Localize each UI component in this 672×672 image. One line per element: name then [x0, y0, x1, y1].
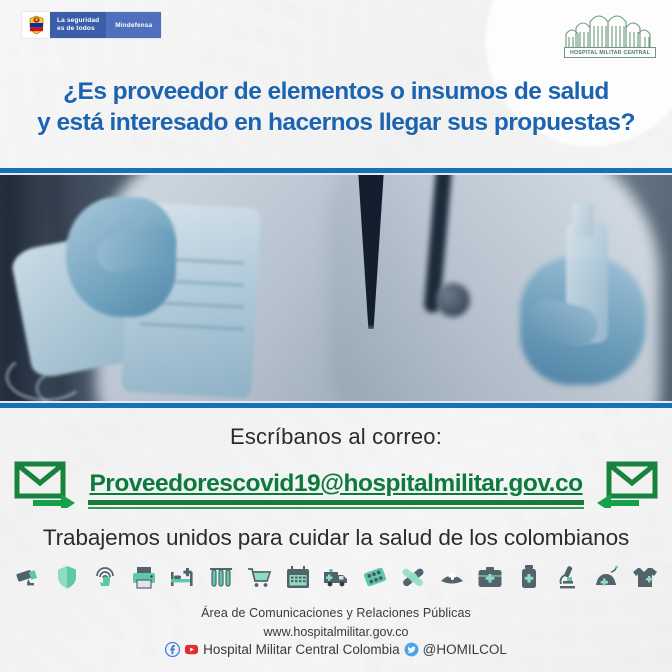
printer-icon — [130, 563, 158, 591]
microscope-icon — [553, 563, 581, 591]
calendar-icon — [284, 563, 312, 591]
doctor-photo — [0, 175, 672, 401]
twitter-icon[interactable] — [404, 642, 419, 657]
headline-line2: y está interesado en hacernos llegar sus… — [0, 107, 672, 138]
photo-color-tint — [0, 175, 672, 401]
medical-icon-strip — [0, 558, 672, 596]
shopping-cart-icon — [245, 563, 273, 591]
ministry-label: Mindefensa — [106, 12, 161, 38]
facebook-icon[interactable] — [165, 642, 180, 657]
pill-blister-icon — [361, 563, 389, 591]
medicine-bottle-icon — [515, 563, 543, 591]
bandages-icon — [399, 563, 427, 591]
ambulance-icon — [322, 563, 350, 591]
emergency-siren-icon — [592, 563, 620, 591]
campaign-slogan: Trabajemos unidos para cuidar la salud d… — [0, 525, 672, 551]
photo-bottom-rule — [0, 403, 672, 408]
email-underline-thick — [88, 500, 584, 505]
gov-slogan-line1: La seguridad — [57, 17, 99, 25]
government-slogan: La seguridad es de todos — [50, 12, 106, 38]
nurse-cap-icon — [438, 563, 466, 591]
shield-icon — [53, 563, 81, 591]
envelope-arrow-left-icon — [593, 460, 659, 508]
scrubs-shirt-icon — [630, 563, 658, 591]
headline-line1: ¿Es proveedor de elementos o insumos de … — [63, 78, 609, 105]
government-logo: La seguridad es de todos Mindefensa — [22, 12, 161, 38]
footer-department: Área de Comunicaciones y Relaciones Públ… — [0, 606, 672, 620]
colombia-coat-of-arms-icon — [22, 12, 50, 38]
footer-social-row: Hospital Militar Central Colombia @HOMIL… — [0, 642, 672, 657]
hospital-name: HOSPITAL MILITAR CENTRAL — [564, 47, 656, 58]
email-address-link[interactable]: Proveedorescovid19@hospitalmilitar.gov.c… — [89, 470, 582, 497]
email-underline-thin — [88, 507, 584, 509]
footer: Área de Comunicaciones y Relaciones Públ… — [0, 606, 672, 657]
poster-root: La seguridad es de todos Mindefensa — [0, 0, 672, 672]
envelope-arrow-right-icon — [13, 460, 79, 508]
gov-slogan-line2: es de todos — [57, 25, 99, 33]
hospital-building-icon — [560, 8, 658, 52]
photo-band — [0, 168, 672, 408]
footer-website: www.hospitalmilitar.gov.co — [0, 625, 672, 639]
header: La seguridad es de todos Mindefensa — [0, 0, 672, 70]
security-camera-icon — [14, 563, 42, 591]
headline: ¿Es proveedor de elementos o insumos de … — [0, 76, 672, 139]
test-tubes-icon — [207, 563, 235, 591]
fingerprint-touch-icon — [91, 563, 119, 591]
social-account-name: Hospital Militar Central Colombia — [203, 642, 400, 657]
twitter-handle: @HOMILCOL — [423, 642, 507, 657]
first-aid-kit-icon — [476, 563, 504, 591]
email-address-wrap: Proveedorescovid19@hospitalmilitar.gov.c… — [89, 470, 582, 498]
hospital-logo: HOSPITAL MILITAR CENTRAL — [560, 8, 658, 60]
write-to-label: Escríbanos al correo: — [0, 424, 672, 450]
hospital-bed-icon — [168, 563, 196, 591]
youtube-icon[interactable] — [184, 642, 199, 657]
